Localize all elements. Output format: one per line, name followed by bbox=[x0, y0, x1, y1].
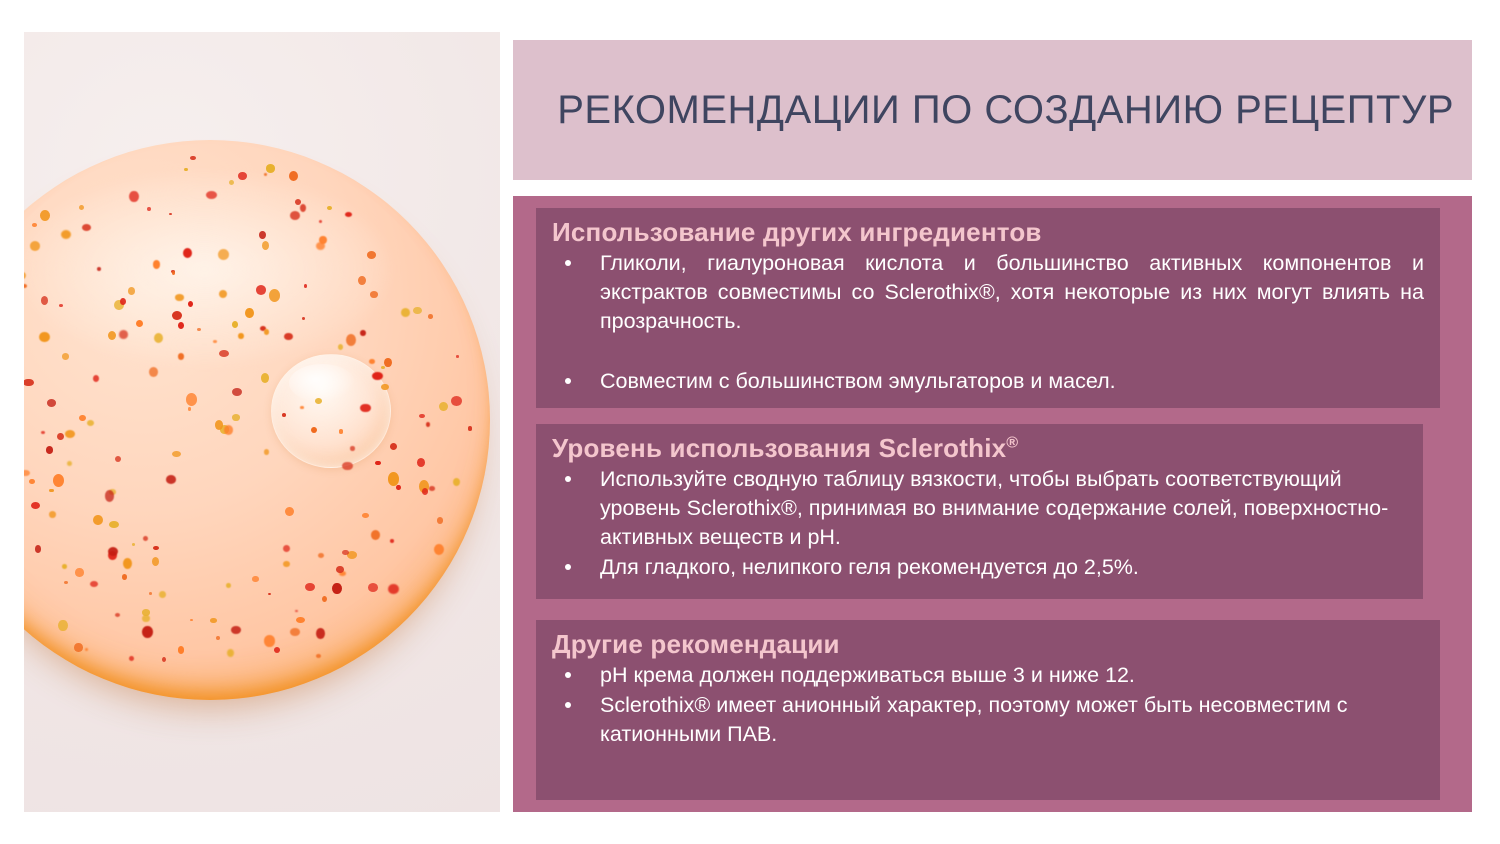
gel-speck bbox=[316, 628, 325, 639]
gel-speck bbox=[332, 583, 342, 594]
gel-speck bbox=[342, 462, 353, 471]
gel-speck bbox=[231, 626, 240, 634]
gel-speck bbox=[119, 330, 128, 339]
bullet-dot-icon bbox=[565, 672, 571, 678]
gel-speck bbox=[266, 164, 276, 173]
gel-speck bbox=[215, 420, 223, 430]
gel-speck bbox=[153, 546, 159, 550]
gel-speck bbox=[264, 449, 269, 454]
title-banner: РЕКОМЕНДАЦИИ ПО СОЗДАНИЮ РЕЦЕПТУР bbox=[513, 40, 1472, 180]
list-item-text: Совместим с большинством эмульгаторов и … bbox=[600, 369, 1116, 393]
gel-speck bbox=[245, 308, 253, 318]
bullet-list-usage-level: Используйте сводную таблицу вязкости, чт… bbox=[552, 465, 1407, 583]
content-panel: Использование других ингредиентов Гликол… bbox=[513, 196, 1472, 812]
gel-speck bbox=[178, 322, 184, 329]
gel-speck bbox=[350, 446, 354, 450]
gel-speck bbox=[238, 172, 246, 180]
list-item-text: pH крема должен поддерживаться выше 3 и … bbox=[600, 663, 1135, 687]
gel-speck bbox=[319, 220, 322, 223]
gel-speck bbox=[85, 648, 88, 651]
gel-bubble bbox=[271, 354, 391, 468]
gel-speck bbox=[388, 584, 398, 594]
gel-speck bbox=[53, 474, 64, 487]
gel-speck bbox=[367, 251, 377, 259]
gel-speck bbox=[274, 647, 280, 653]
gel-speck bbox=[290, 628, 299, 636]
gel-speck bbox=[264, 635, 274, 647]
gel-speck bbox=[58, 620, 67, 631]
gel-speck bbox=[302, 317, 305, 320]
gel-speck bbox=[269, 289, 280, 301]
list-item: pH крема должен поддерживаться выше 3 и … bbox=[552, 661, 1424, 690]
gel-speck bbox=[74, 643, 82, 651]
gel-speck bbox=[368, 583, 378, 592]
gel-speck bbox=[184, 168, 187, 171]
gel-speck bbox=[252, 576, 258, 582]
gel-speck bbox=[388, 472, 399, 485]
gel-speck bbox=[360, 330, 365, 336]
gel-speck bbox=[132, 543, 135, 546]
gel-speck bbox=[296, 617, 305, 623]
gel-speck bbox=[210, 618, 217, 623]
block-heading-usage-level: Уровень использования Sclerothix® bbox=[552, 434, 1407, 463]
gel-speck bbox=[456, 355, 459, 357]
gel-speck bbox=[87, 420, 94, 426]
recommendation-block-usage-level: Уровень использования Sclerothix® Исполь… bbox=[536, 424, 1423, 599]
gel-speck bbox=[41, 296, 48, 305]
gel-speck bbox=[24, 379, 34, 387]
gel-speck bbox=[453, 478, 460, 486]
list-item: Совместим с большинством эмульгаторов и … bbox=[552, 367, 1424, 396]
product-photo bbox=[24, 32, 500, 812]
gel-speck bbox=[290, 211, 300, 220]
block-heading-text: Использование других ингредиентов bbox=[552, 217, 1042, 247]
gel-speck bbox=[62, 564, 67, 569]
gel-speck bbox=[401, 308, 410, 317]
bullet-list-other: pH крема должен поддерживаться выше 3 и … bbox=[552, 661, 1424, 750]
gel-speck bbox=[186, 393, 197, 406]
gel-speck bbox=[232, 414, 240, 420]
gel-speck bbox=[396, 485, 401, 491]
gel-speck bbox=[439, 402, 448, 411]
gel-speck bbox=[283, 561, 289, 567]
bullet-list-ingredients: Гликоли, гиалуроновая кислота и большинс… bbox=[552, 249, 1424, 396]
gel-speck bbox=[434, 544, 444, 555]
list-item: Используйте сводную таблицу вязкости, чт… bbox=[552, 465, 1407, 553]
gel-speck bbox=[46, 446, 53, 454]
gel-speck bbox=[172, 311, 182, 320]
recommendation-block-ingredients: Использование других ингредиентов Гликол… bbox=[536, 208, 1440, 408]
registered-mark: ® bbox=[1006, 433, 1018, 451]
gel-speck bbox=[39, 332, 49, 342]
gel-speck bbox=[224, 425, 233, 435]
gel-speck bbox=[166, 475, 177, 484]
bullet-dot-icon bbox=[565, 564, 571, 570]
gel-speck bbox=[142, 626, 152, 638]
gel-speck bbox=[108, 331, 116, 340]
gel-disc-sheen bbox=[24, 174, 389, 364]
block-heading-ingredients: Использование других ингредиентов bbox=[552, 218, 1424, 247]
gel-speck bbox=[327, 206, 332, 210]
gel-speck bbox=[97, 267, 101, 271]
gel-speck bbox=[256, 285, 267, 295]
recommendation-block-other: Другие рекомендации pH крема должен подд… bbox=[536, 620, 1440, 800]
gel-speck bbox=[75, 568, 83, 576]
gel-speck bbox=[218, 249, 229, 260]
slide-root: РЕКОМЕНДАЦИИ ПО СОЗДАНИЮ РЕЦЕПТУР Исполь… bbox=[0, 0, 1500, 844]
gel-speck bbox=[285, 507, 294, 516]
bullet-dot-icon bbox=[565, 378, 571, 384]
page-title: РЕКОМЕНДАЦИИ ПО СОЗДАНИЮ РЕЦЕПТУР bbox=[557, 88, 1472, 133]
gel-speck bbox=[232, 388, 242, 396]
bullet-dot-icon bbox=[565, 260, 571, 266]
block-heading-text: Уровень использования Sclerothix bbox=[552, 433, 1006, 463]
gel-speck bbox=[190, 156, 196, 161]
gel-speck bbox=[419, 414, 424, 418]
bullet-dot-icon bbox=[565, 476, 571, 482]
gel-speck bbox=[172, 451, 180, 457]
gel-speck bbox=[162, 657, 166, 662]
list-item: Для гладкого, нелипкого геля рекомендует… bbox=[552, 553, 1407, 582]
gel-speck bbox=[178, 353, 184, 359]
gel-speck bbox=[429, 486, 435, 490]
gel-speck bbox=[259, 231, 266, 239]
gel-speck bbox=[413, 307, 421, 314]
gel-speck bbox=[358, 276, 365, 285]
gel-speck bbox=[422, 488, 428, 495]
gel-speck bbox=[336, 566, 343, 573]
gel-speck bbox=[362, 513, 368, 518]
gel-speck bbox=[283, 545, 290, 552]
gel-speck bbox=[346, 334, 356, 346]
block-heading-text: Другие рекомендации bbox=[552, 629, 840, 659]
gel-speck bbox=[289, 171, 298, 181]
gel-speck bbox=[381, 384, 389, 391]
gel-speck bbox=[300, 406, 303, 409]
bullet-dot-icon bbox=[565, 702, 571, 708]
gel-speck bbox=[120, 298, 126, 305]
gel-speck bbox=[437, 517, 444, 524]
gel-speck bbox=[206, 191, 217, 199]
gel-speck bbox=[390, 539, 394, 542]
gel-speck bbox=[451, 396, 462, 406]
gel-speck bbox=[30, 241, 40, 251]
gel-speck bbox=[232, 321, 238, 327]
gel-speck bbox=[219, 290, 227, 298]
gel-speck bbox=[264, 329, 269, 334]
gel-speck bbox=[304, 284, 307, 288]
gel-speck bbox=[93, 515, 102, 525]
gel-speck bbox=[213, 340, 217, 343]
gel-speck bbox=[129, 191, 139, 203]
gel-speck bbox=[67, 461, 72, 466]
gel-speck bbox=[90, 581, 97, 587]
list-item: Sclerothix® имеет анионный характер, поэ… bbox=[552, 691, 1424, 749]
gel-speck bbox=[24, 284, 27, 288]
gel-speck bbox=[178, 646, 185, 653]
gel-speck bbox=[65, 430, 75, 438]
gel-speck bbox=[375, 461, 380, 466]
gel-speck bbox=[123, 558, 132, 570]
gel-speck bbox=[32, 223, 37, 227]
gel-speck bbox=[342, 550, 348, 555]
list-item: Гликоли, гиалуроновая кислота и большинс… bbox=[552, 249, 1424, 366]
gel-speck bbox=[49, 489, 53, 493]
gel-speck bbox=[264, 173, 267, 176]
list-item-text: Гликоли, гиалуроновая кислота и большинс… bbox=[600, 251, 1424, 333]
gel-speck bbox=[142, 615, 150, 621]
gel-speck bbox=[57, 433, 64, 440]
gel-speck bbox=[175, 294, 184, 300]
gel-speck bbox=[345, 212, 352, 217]
list-item-text: Используйте сводную таблицу вязкости, чт… bbox=[600, 467, 1388, 549]
gel-speck bbox=[339, 429, 344, 433]
gel-speck bbox=[159, 591, 166, 598]
gel-speck bbox=[315, 398, 322, 404]
gel-speck bbox=[216, 636, 220, 640]
gel-speck bbox=[370, 291, 378, 298]
gel-speck bbox=[62, 353, 69, 359]
list-item-text: Для гладкого, нелипкого геля рекомендует… bbox=[600, 555, 1139, 579]
list-item-text: Sclerothix® имеет анионный характер, поэ… bbox=[600, 693, 1347, 746]
block-heading-other: Другие рекомендации bbox=[552, 630, 1424, 659]
